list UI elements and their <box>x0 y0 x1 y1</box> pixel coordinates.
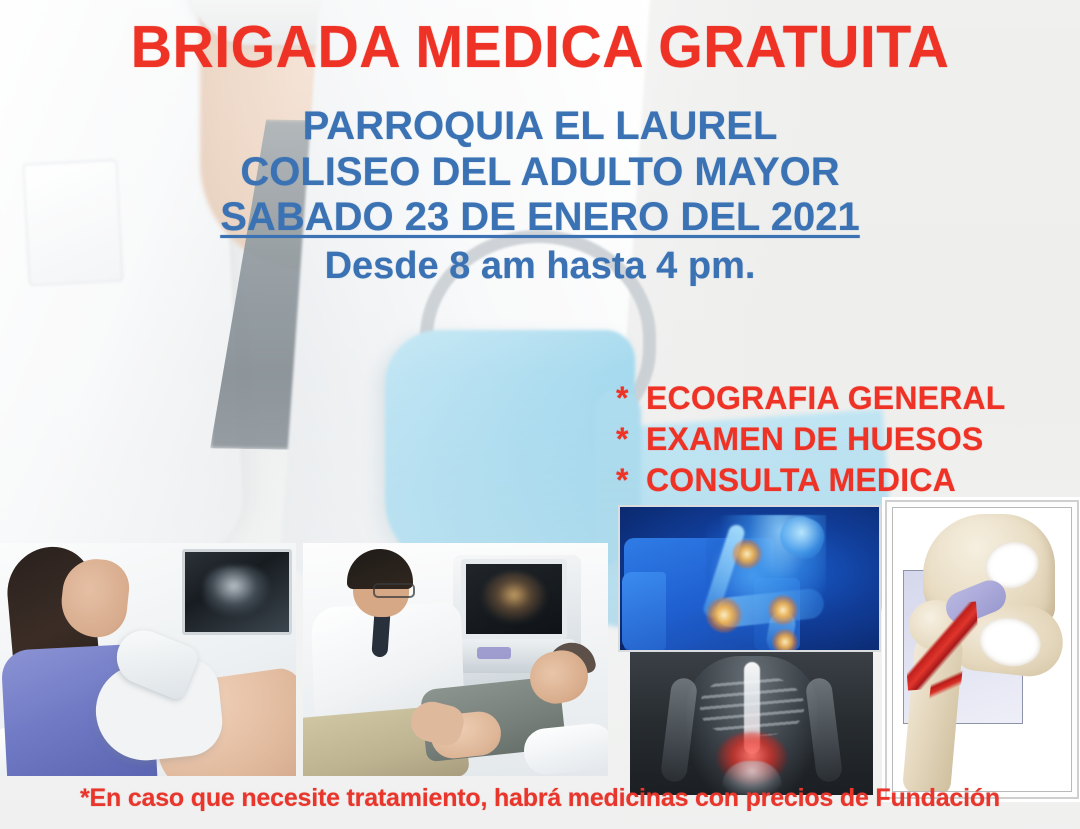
ultrasound-screen-icon <box>461 559 567 639</box>
fracture-line-secondary-icon <box>928 657 963 712</box>
service-item-2: *EXAMEN DE HUESOS <box>616 419 1006 460</box>
venue-location: COLISEO DEL ADULTO MAYOR <box>120 150 960 196</box>
venue-parish: PARROQUIA EL LAUREL <box>120 104 960 150</box>
footnote-text: *En caso que necesite tratamiento, habrá… <box>0 784 1080 813</box>
pain-hotspot-hip-icon <box>706 597 742 633</box>
service-label-1: ECOGRAFIA GENERAL <box>646 380 1006 416</box>
services-list: *ECOGRAFIA GENERAL *EXAMEN DE HUESOS *CO… <box>616 378 1006 501</box>
illustration-hip-fracture <box>885 500 1079 799</box>
ultrasound-monitor-icon <box>182 549 292 635</box>
pain-hotspot-knee-icon <box>768 595 798 625</box>
service-item-3: *CONSULTA MEDICA <box>616 460 1006 501</box>
photo-doctor-ultrasound <box>303 543 608 776</box>
pain-hotspot-shoulder-icon <box>732 539 762 569</box>
illustration-joint-pain <box>618 505 881 652</box>
eyeglasses-icon <box>373 583 415 598</box>
hip-illustration-frame <box>892 507 1072 792</box>
photo-ultrasound-woman <box>0 543 296 776</box>
illustration-back-pain <box>630 652 873 795</box>
event-hours: Desde 8 am hasta 4 pm. <box>120 245 960 288</box>
pain-hotspot-lower-knee-icon <box>772 629 798 652</box>
asterisk-icon: * <box>616 419 646 460</box>
event-date: SABADO 23 DE ENERO DEL 2021 <box>120 195 960 241</box>
service-label-2: EXAMEN DE HUESOS <box>646 421 983 457</box>
medical-brigade-flyer: BRIGADA MEDICA GRATUITA PARROQUIA EL LAU… <box>0 0 1080 829</box>
page-title: BRIGADA MEDICA GRATUITA <box>16 18 1064 77</box>
service-label-3: CONSULTA MEDICA <box>646 462 956 498</box>
asterisk-icon: * <box>616 460 646 501</box>
asterisk-icon: * <box>616 378 646 419</box>
venue-details: PARROQUIA EL LAUREL COLISEO DEL ADULTO M… <box>120 104 960 288</box>
service-item-1: *ECOGRAFIA GENERAL <box>616 378 1006 419</box>
